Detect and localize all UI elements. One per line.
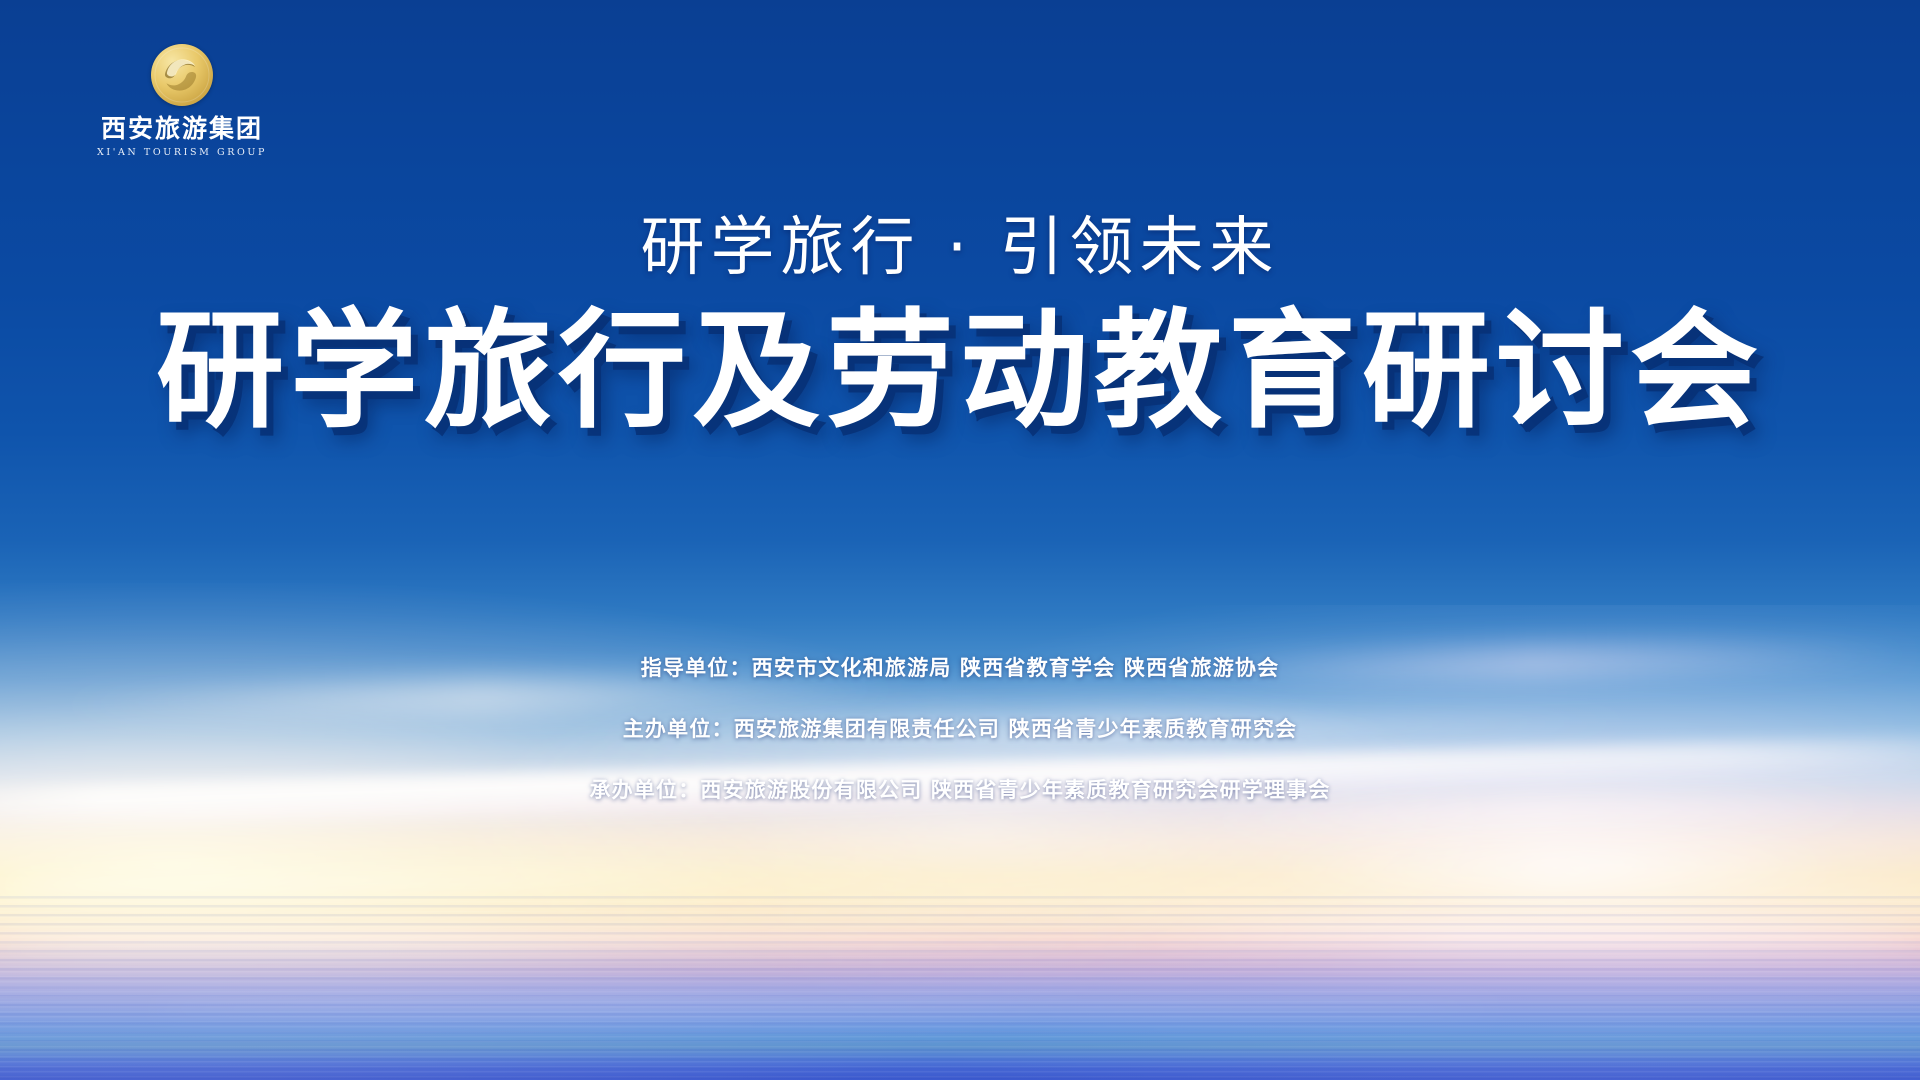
credits-block: 指导单位：西安市文化和旅游局 陕西省教育学会 陕西省旅游协会 主办单位：西安旅游…	[0, 652, 1920, 804]
credit-line-guidance: 指导单位：西安市文化和旅游局 陕西省教育学会 陕西省旅游协会	[0, 652, 1920, 682]
poster-title: 研学旅行及劳动教育研讨会	[0, 300, 1920, 443]
brand-logo: 西安旅游集团 XI'AN TOURISM GROUP	[88, 44, 276, 158]
credit-line-organizer: 承办单位：西安旅游股份有限公司 陕西省青少年素质教育研究会研学理事会	[0, 774, 1920, 804]
poster-subtitle: 研学旅行 · 引领未来	[0, 196, 1920, 288]
credit-line-host: 主办单位：西安旅游集团有限责任公司 陕西省青少年素质教育研究会	[0, 713, 1920, 743]
water-ripple-texture	[0, 896, 1920, 1080]
phoenix-emblem-icon	[151, 44, 213, 106]
logo-name-cn: 西安旅游集团	[88, 116, 276, 142]
logo-name-en: XI'AN TOURISM GROUP	[88, 147, 276, 158]
poster-stage: 西安旅游集团 XI'AN TOURISM GROUP 研学旅行 · 引领未来 研…	[0, 0, 1920, 1080]
